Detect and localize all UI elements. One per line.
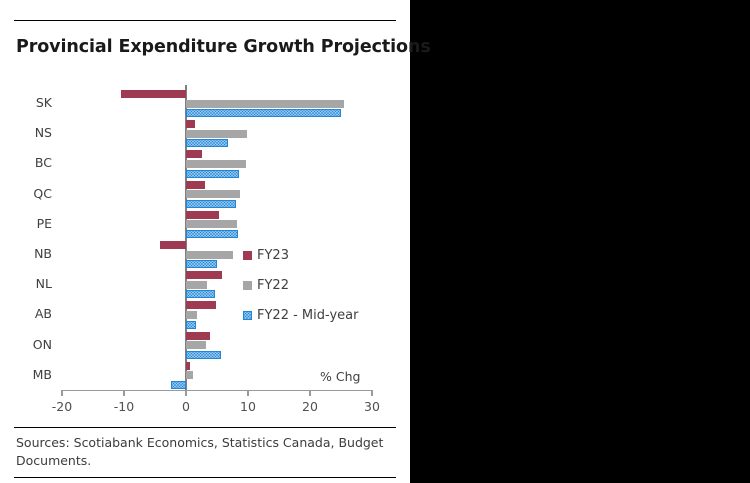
- bar-sk-fy22-mid-year[interactable]: [186, 109, 341, 117]
- legend-item-fy22-midyear[interactable]: FY22 - Mid-year: [243, 300, 403, 330]
- x-axis-tick-label: 10: [240, 399, 256, 414]
- bar-sk-fy23[interactable]: [121, 90, 186, 98]
- bar-nb-fy22[interactable]: [186, 251, 233, 259]
- category-label: NS: [35, 125, 52, 140]
- legend-label-fy23: FY23: [257, 248, 289, 263]
- bar-pe-fy22[interactable]: [186, 220, 237, 228]
- bar-ns-fy23[interactable]: [186, 120, 195, 128]
- bar-group: SK: [62, 88, 372, 118]
- category-label: SK: [36, 95, 52, 110]
- x-axis-tick: [123, 390, 124, 396]
- legend-swatch-icon-fy23: [243, 251, 252, 260]
- category-label: MB: [33, 367, 52, 382]
- page-title: Provincial Expenditure Growth Projection…: [16, 37, 406, 57]
- x-axis-tick-label: -20: [52, 399, 72, 414]
- bar-on-fy23[interactable]: [186, 332, 210, 340]
- category-label: NB: [34, 246, 52, 261]
- bar-on-fy22[interactable]: [186, 341, 206, 349]
- x-axis-tick: [185, 390, 186, 396]
- bar-group: NS: [62, 118, 372, 148]
- bottom-divider: [14, 427, 396, 428]
- bar-nb-fy23[interactable]: [160, 241, 186, 249]
- bar-pe-fy22-mid-year[interactable]: [186, 230, 238, 238]
- legend-item-fy23[interactable]: FY23: [243, 240, 403, 270]
- bar-sk-fy22[interactable]: [186, 100, 344, 108]
- x-axis-tick-label: 20: [302, 399, 318, 414]
- bar-pe-fy23[interactable]: [186, 211, 219, 219]
- category-label: AB: [35, 306, 52, 321]
- legend-swatch-icon-fy22: [243, 281, 252, 290]
- category-label: NL: [36, 276, 52, 291]
- legend-label-fy22: FY22: [257, 278, 289, 293]
- x-axis-tick-label: 0: [182, 399, 190, 414]
- bar-nb-fy22-mid-year[interactable]: [186, 260, 217, 268]
- bar-bc-fy23[interactable]: [186, 150, 202, 158]
- x-axis-tick: [247, 390, 248, 396]
- legend-label-fy22-midyear: FY22 - Mid-year: [257, 308, 358, 323]
- bar-bc-fy22[interactable]: [186, 160, 246, 168]
- bar-ns-fy22[interactable]: [186, 130, 247, 138]
- x-axis-tick: [61, 390, 62, 396]
- bar-bc-fy22-mid-year[interactable]: [186, 170, 239, 178]
- bar-nl-fy22[interactable]: [186, 281, 207, 289]
- bar-ab-fy22[interactable]: [186, 311, 197, 319]
- legend-swatch-icon-fy22-midyear: [243, 311, 252, 320]
- bar-ns-fy22-mid-year[interactable]: [186, 139, 228, 147]
- bar-qc-fy22[interactable]: [186, 190, 240, 198]
- chart-figure: Provincial Expenditure Growth Projection…: [0, 0, 410, 483]
- category-label: BC: [35, 155, 52, 170]
- footer-divider: [14, 477, 396, 478]
- bar-group: BC: [62, 148, 372, 178]
- x-axis-tick: [371, 390, 372, 396]
- bar-qc-fy23[interactable]: [186, 181, 205, 189]
- bar-nl-fy23[interactable]: [186, 271, 222, 279]
- plot-area: -20-100102030SKNSBCQCPENBNLABONMB: [62, 88, 372, 390]
- legend-item-fy22[interactable]: FY22: [243, 270, 403, 300]
- category-label: PE: [37, 216, 52, 231]
- bar-mb-fy23[interactable]: [186, 362, 190, 370]
- x-axis-tick-label: -10: [114, 399, 134, 414]
- source-note: Sources: Scotiabank Economics, Statistic…: [16, 434, 392, 470]
- category-label: QC: [33, 186, 52, 201]
- bar-ab-fy22-mid-year[interactable]: [186, 321, 196, 329]
- bar-mb-fy22[interactable]: [186, 371, 193, 379]
- category-label: ON: [33, 337, 52, 352]
- bar-group: QC: [62, 179, 372, 209]
- bar-qc-fy22-mid-year[interactable]: [186, 200, 236, 208]
- x-axis-tick: [309, 390, 310, 396]
- bar-mb-fy22-mid-year[interactable]: [171, 381, 187, 389]
- bar-group: PE: [62, 209, 372, 239]
- top-divider: [14, 20, 396, 21]
- x-axis-unit-label: % Chg: [320, 369, 360, 384]
- chart-legend: FY23 FY22 FY22 - Mid-year: [243, 240, 403, 330]
- bar-nl-fy22-mid-year[interactable]: [186, 290, 215, 298]
- bar-on-fy22-mid-year[interactable]: [186, 351, 221, 359]
- bar-ab-fy23[interactable]: [186, 301, 216, 309]
- bar-group: ON: [62, 330, 372, 360]
- x-axis-tick-label: 30: [364, 399, 380, 414]
- x-axis-line: [62, 390, 372, 391]
